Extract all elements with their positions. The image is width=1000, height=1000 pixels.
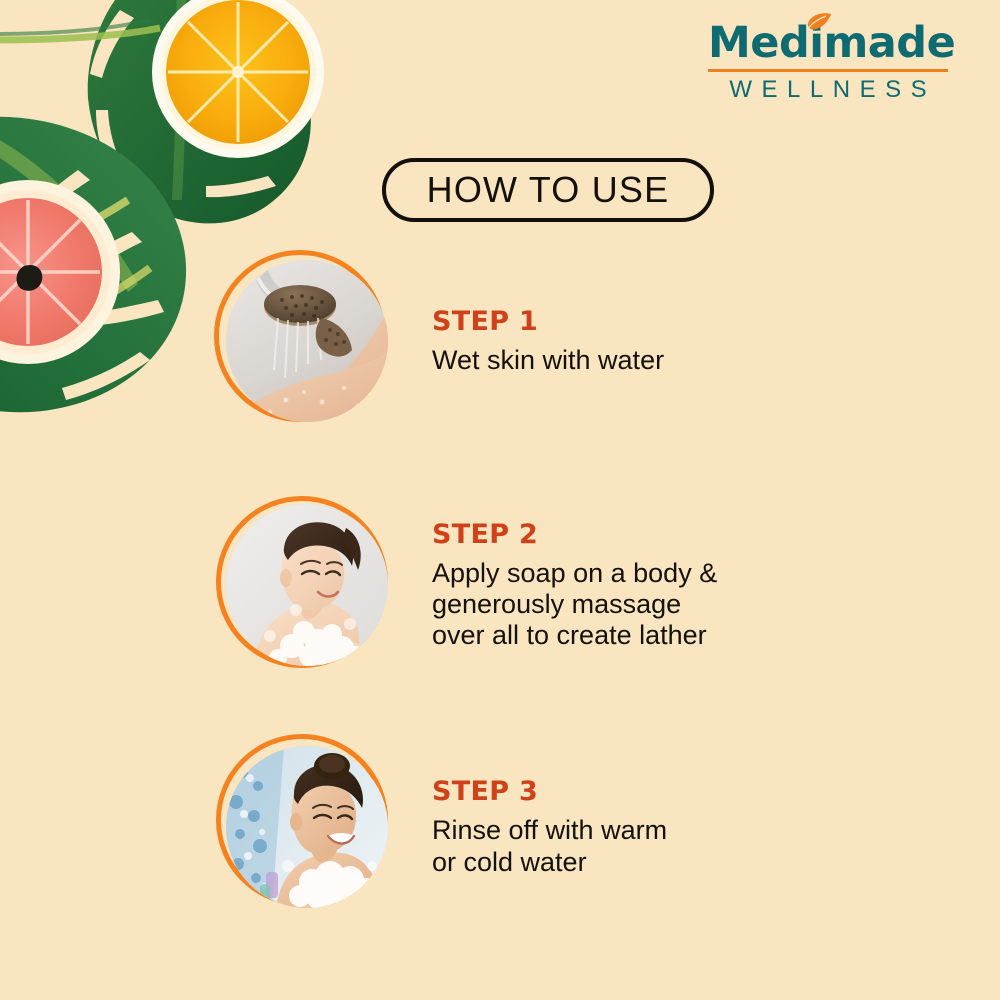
step-3-label: STEP 3 — [432, 776, 667, 807]
step-3-thumbnail — [214, 734, 398, 918]
step-1-thumbnail — [214, 248, 398, 432]
list-item: STEP 3 Rinse off with warm or cold water — [214, 734, 834, 918]
step-1-text: STEP 1 Wet skin with water — [432, 304, 664, 376]
step-1-description: Wet skin with water — [432, 345, 664, 376]
steps-list: STEP 1 Wet skin with water — [0, 0, 1000, 1000]
list-item: STEP 1 Wet skin with water — [214, 248, 834, 432]
step-2-text: STEP 2 Apply soap on a body & generously… — [432, 517, 717, 652]
list-item: STEP 2 Apply soap on a body & generously… — [214, 492, 834, 676]
step-1-label: STEP 1 — [432, 306, 664, 337]
step-3-text: STEP 3 Rinse off with warm or cold water — [432, 774, 667, 878]
step-2-thumbnail — [214, 492, 398, 676]
shower-head-icon — [226, 260, 388, 422]
woman-rinsing-shower-icon — [226, 746, 388, 908]
poster-canvas: Medimade WELLNESS HOW TO USE — [0, 0, 1000, 1000]
step-3-description: Rinse off with warm or cold water — [432, 815, 667, 878]
step-2-label: STEP 2 — [432, 519, 717, 550]
step-2-description: Apply soap on a body & generously massag… — [432, 558, 717, 652]
woman-applying-soap-icon — [226, 504, 388, 666]
